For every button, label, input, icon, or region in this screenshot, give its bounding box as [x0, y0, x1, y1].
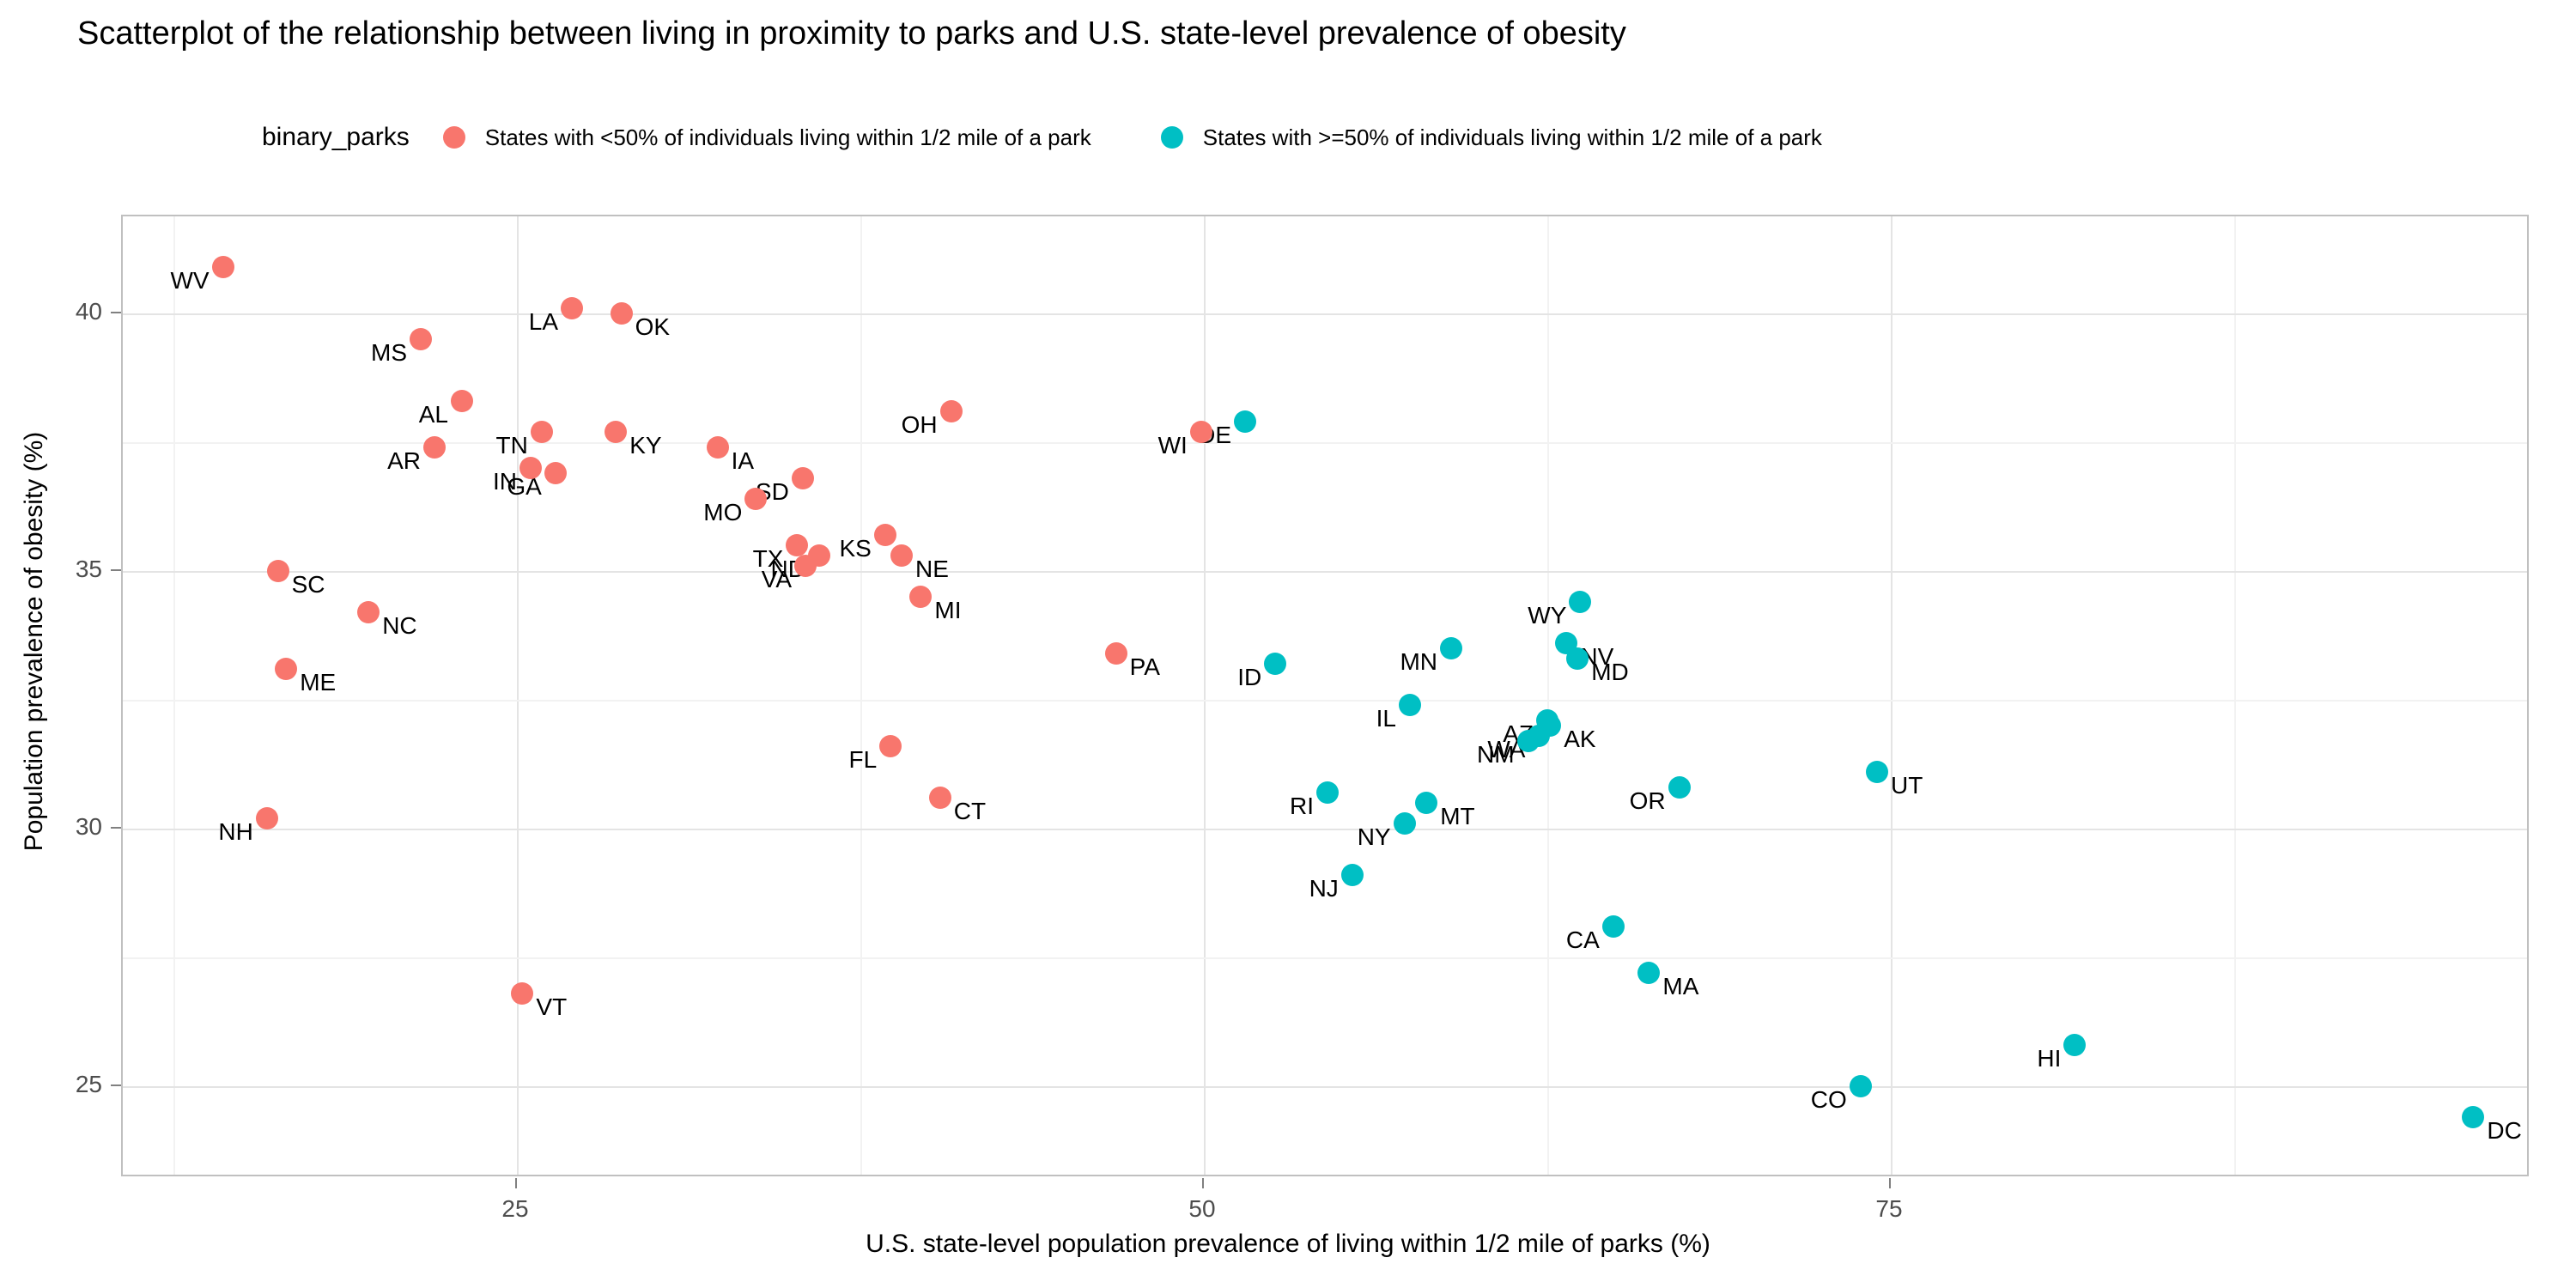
gridline-y-minor [123, 700, 2527, 702]
gridline-x-minor [2234, 216, 2236, 1175]
data-point-ct[interactable] [929, 787, 951, 809]
data-point-co[interactable] [1850, 1075, 1872, 1097]
data-point-dc[interactable] [2462, 1106, 2484, 1128]
legend-item-high-parks[interactable]: States with >=50% of individuals living … [1153, 120, 1822, 155]
point-label-ia: IA [732, 449, 754, 473]
data-point-il[interactable] [1399, 694, 1421, 716]
point-label-dc: DC [2487, 1119, 2521, 1143]
data-point-la[interactable] [561, 297, 583, 319]
gridline-x [1891, 216, 1893, 1175]
point-label-ms: MS [371, 341, 407, 365]
y-tick-label: 30 [76, 813, 102, 841]
data-point-ks[interactable] [874, 524, 896, 546]
y-tick-label: 25 [76, 1071, 102, 1098]
legend: binary_parks States with <50% of individ… [262, 120, 1884, 155]
data-point-ia[interactable] [707, 436, 729, 459]
gridline-y [123, 1086, 2527, 1088]
data-point-id[interactable] [1264, 653, 1286, 675]
gridline-y [123, 829, 2527, 830]
data-point-md[interactable] [1566, 647, 1589, 670]
point-label-mo: MO [703, 501, 742, 525]
plot-panel: WVMSLAOKALTNKYARINGAIAMOOHWISDNDKSTXVANE… [121, 215, 2529, 1176]
data-point-wv[interactable] [212, 256, 234, 278]
y-tick-label: 40 [76, 298, 102, 325]
data-point-de[interactable] [1234, 410, 1256, 433]
point-label-ut: UT [1891, 774, 1923, 798]
data-point-in[interactable] [519, 457, 542, 479]
data-point-ny[interactable] [1394, 812, 1416, 835]
data-point-wi[interactable] [1190, 421, 1212, 443]
data-point-tx[interactable] [786, 534, 808, 556]
gridline-y-minor [123, 442, 2527, 444]
y-tick [111, 827, 121, 829]
data-point-me[interactable] [275, 658, 297, 680]
point-label-ct: CT [954, 799, 986, 823]
gridline-y [123, 313, 2527, 315]
data-point-mn[interactable] [1440, 637, 1462, 659]
x-tick-label: 25 [501, 1195, 528, 1223]
point-label-il: IL [1376, 707, 1396, 731]
point-label-sc: SC [292, 573, 325, 597]
point-label-nc: NC [382, 614, 416, 638]
page-title: Scatterplot of the relationship between … [77, 15, 1626, 52]
data-point-nc[interactable] [357, 601, 380, 623]
data-point-al[interactable] [451, 390, 473, 412]
data-point-ma[interactable] [1637, 962, 1660, 984]
point-label-or: OR [1630, 789, 1666, 813]
point-label-me: ME [300, 671, 336, 695]
data-point-ok[interactable] [611, 302, 633, 325]
point-label-mn: MN [1400, 650, 1437, 674]
low-parks-dot-icon [435, 120, 473, 155]
data-point-vt[interactable] [511, 982, 533, 1005]
point-label-ks: KS [839, 537, 871, 561]
data-point-va[interactable] [794, 555, 817, 577]
point-label-nh: NH [218, 820, 252, 844]
data-point-mo[interactable] [744, 488, 767, 510]
data-point-sd[interactable] [792, 467, 814, 489]
point-label-la: LA [529, 310, 558, 334]
data-point-ne[interactable] [890, 544, 913, 567]
gridline-x [1204, 216, 1206, 1175]
y-tick [111, 312, 121, 313]
legend-title: binary_parks [262, 123, 410, 152]
data-point-mi[interactable] [909, 586, 932, 608]
point-label-nj: NJ [1309, 877, 1339, 901]
gridline-x [517, 216, 519, 1175]
point-label-md: MD [1591, 660, 1629, 684]
gridline-y-minor [123, 957, 2527, 959]
data-point-ms[interactable] [410, 328, 432, 350]
point-label-wy: WY [1528, 604, 1566, 628]
x-tick [1202, 1178, 1204, 1188]
data-point-nj[interactable] [1341, 864, 1364, 886]
data-point-wy[interactable] [1569, 591, 1591, 613]
point-label-mt: MT [1440, 805, 1474, 829]
point-label-fl: FL [849, 748, 878, 772]
data-point-fl[interactable] [879, 735, 902, 757]
x-tick [515, 1178, 517, 1188]
data-point-nh[interactable] [256, 807, 278, 829]
data-point-ar[interactable] [423, 436, 446, 459]
gridline-y [123, 571, 2527, 573]
point-label-hi: HI [2037, 1047, 2061, 1071]
point-label-wv: WV [170, 269, 209, 293]
x-axis-title: U.S. state-level population prevalence o… [0, 1230, 2576, 1259]
y-axis-title: Population prevalence of obesity (%) [20, 161, 49, 1122]
legend-item-low-parks[interactable]: States with <50% of individuals living w… [435, 120, 1091, 155]
data-point-oh[interactable] [940, 400, 963, 422]
x-tick-label: 50 [1188, 1195, 1215, 1223]
point-label-tn: TN [495, 434, 527, 458]
point-label-ri: RI [1290, 794, 1314, 818]
point-label-ma: MA [1662, 975, 1698, 999]
point-label-ok: OK [635, 315, 670, 339]
point-label-ky: KY [629, 434, 661, 458]
data-point-ri[interactable] [1316, 781, 1339, 804]
legend-label-low-parks: States with <50% of individuals living w… [485, 125, 1091, 151]
x-tick-label: 75 [1875, 1195, 1902, 1223]
data-point-ak[interactable] [1539, 714, 1561, 737]
scatterplot-figure: Scatterplot of the relationship between … [0, 0, 2576, 1288]
y-tick-label: 35 [76, 556, 102, 583]
gridline-x-minor [173, 216, 175, 1175]
data-point-ga[interactable] [544, 462, 567, 484]
x-tick [1889, 1178, 1891, 1188]
high-parks-dot-icon [1153, 120, 1191, 155]
point-label-ar: AR [387, 449, 421, 473]
data-point-ky[interactable] [605, 421, 627, 443]
data-point-ca[interactable] [1602, 915, 1625, 938]
point-label-oh: OH [902, 413, 938, 437]
point-label-va: VA [762, 568, 792, 592]
data-point-hi[interactable] [2063, 1034, 2086, 1056]
data-point-ut[interactable] [1866, 761, 1888, 783]
data-point-sc[interactable] [267, 560, 289, 582]
gridline-x-minor [1547, 216, 1549, 1175]
data-point-mt[interactable] [1415, 792, 1437, 814]
point-label-co: CO [1811, 1088, 1847, 1112]
point-label-pa: PA [1130, 655, 1160, 679]
data-point-pa[interactable] [1105, 642, 1127, 665]
point-label-id: ID [1237, 665, 1261, 690]
point-label-al: AL [419, 403, 448, 427]
point-label-ne: NE [915, 557, 949, 581]
point-label-mi: MI [934, 598, 961, 623]
y-tick [111, 1084, 121, 1086]
point-label-ak: AK [1564, 727, 1595, 751]
point-label-ny: NY [1358, 825, 1391, 849]
data-point-or[interactable] [1668, 776, 1691, 799]
point-label-wi: WI [1158, 434, 1188, 458]
gridline-x-minor [860, 216, 862, 1175]
y-tick [111, 569, 121, 571]
point-label-ca: CA [1566, 928, 1600, 952]
legend-label-high-parks: States with >=50% of individuals living … [1203, 125, 1822, 151]
data-point-tn[interactable] [531, 421, 553, 443]
point-label-vt: VT [536, 995, 567, 1019]
point-label-ga: GA [507, 475, 541, 499]
